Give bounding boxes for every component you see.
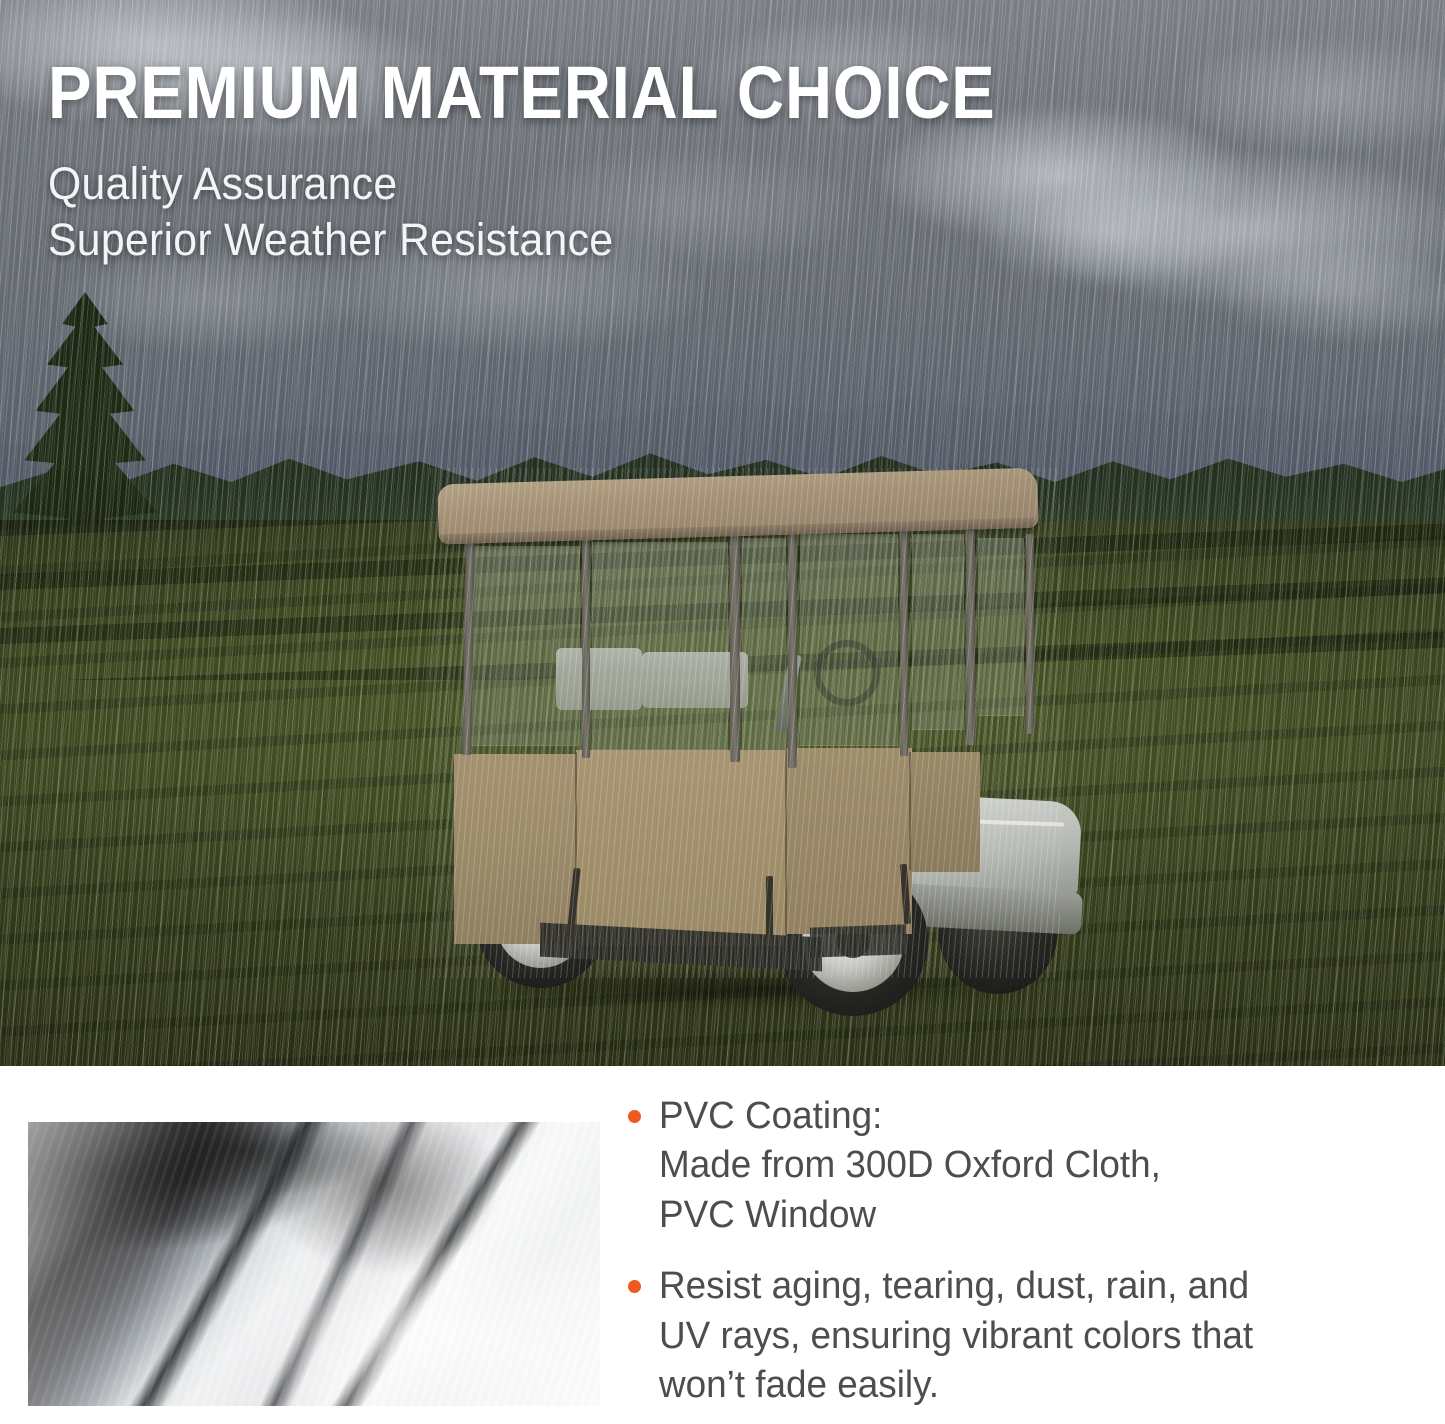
canopy-support-post: [730, 532, 740, 762]
cover-mesh-skirt: [810, 924, 906, 957]
canopy-support-post: [1026, 534, 1034, 734]
pvc-window-panel: [912, 534, 964, 730]
hero-image: PREMIUM MATERIAL CHOICE Quality Assuranc…: [0, 0, 1445, 1066]
canopy-support-post: [900, 528, 908, 756]
pvc-material-photo: [28, 1122, 600, 1406]
pvc-window-panel: [470, 546, 580, 746]
canopy-support-post: [582, 536, 590, 758]
golf-cart-with-cover: [430, 468, 1060, 978]
tie-down-strap: [766, 876, 773, 938]
cover-body-panel: [910, 752, 980, 872]
steering-wheel: [814, 640, 880, 706]
product-feature-page: PREMIUM MATERIAL CHOICE Quality Assuranc…: [0, 0, 1445, 1424]
cover-body-panel: [786, 748, 912, 934]
hero-text-block: PREMIUM MATERIAL CHOICE Quality Assuranc…: [48, 56, 1125, 268]
canopy-support-post: [966, 530, 975, 745]
cover-seam: [785, 748, 787, 934]
list-item: PVC Coating: Made from 300D Oxford Cloth…: [628, 1092, 1403, 1240]
pvc-window-panel: [978, 538, 1024, 716]
hero-subline-1: Quality Assurance: [48, 156, 1071, 212]
bullet-dot-icon: [628, 1280, 641, 1293]
hero-subline-block: Quality Assurance Superior Weather Resis…: [48, 156, 1071, 268]
list-item: Resist aging, tearing, dust, rain, and U…: [628, 1262, 1403, 1410]
cover-seam: [909, 752, 911, 870]
bullet-dot-icon: [628, 1110, 641, 1123]
canopy-support-post: [788, 528, 797, 768]
pvc-window-panel: [592, 542, 728, 750]
feature-text: Resist aging, tearing, dust, rain, and U…: [659, 1262, 1253, 1410]
hero-subline-2: Superior Weather Resistance: [48, 212, 1071, 268]
cover-body-panel: [576, 750, 786, 946]
features-panel: PVC Coating: Made from 300D Oxford Cloth…: [0, 1066, 1445, 1424]
hero-headline: PREMIUM MATERIAL CHOICE: [48, 56, 996, 130]
feature-text: PVC Coating: Made from 300D Oxford Cloth…: [659, 1092, 1161, 1240]
cart-seat: [556, 648, 642, 710]
feature-bullet-list: PVC Coating: Made from 300D Oxford Cloth…: [628, 1092, 1403, 1424]
